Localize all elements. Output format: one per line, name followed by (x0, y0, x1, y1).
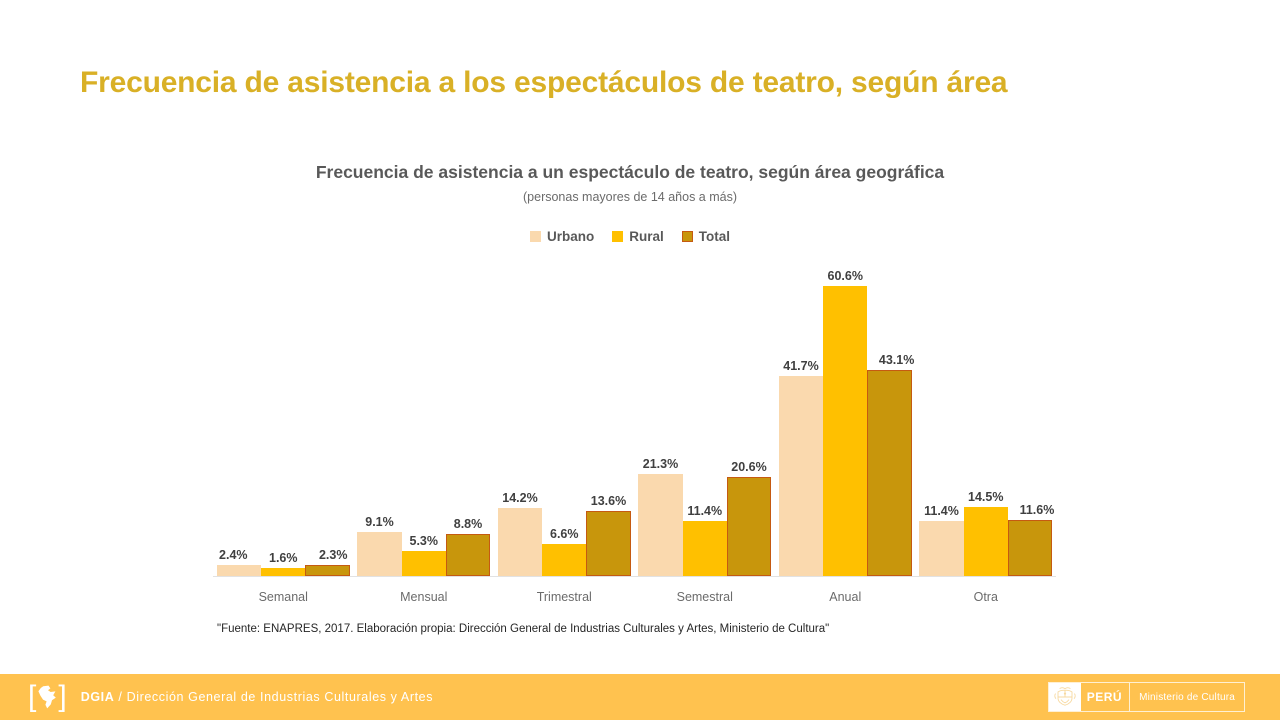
bar-rect (683, 521, 727, 576)
bar-value-label: 41.7% (783, 359, 818, 373)
bar-value-label: 43.1% (879, 353, 914, 367)
bar-rural[interactable]: 1.6% (261, 568, 305, 576)
bar-value-label: 6.6% (550, 527, 579, 541)
bar-rural[interactable]: 6.6% (542, 544, 586, 576)
bar-rect (261, 568, 305, 576)
bar-value-label: 5.3% (410, 534, 439, 548)
bar-rect (779, 376, 823, 576)
bar-value-label: 21.3% (643, 457, 678, 471)
bar-value-label: 14.2% (502, 491, 537, 505)
bar-value-label: 11.6% (1020, 503, 1055, 517)
legend-item-rural[interactable]: Rural (612, 229, 664, 244)
bar-rect (498, 508, 542, 576)
bracket-left-icon: [ (28, 682, 36, 712)
bar-rural[interactable]: 11.4% (683, 521, 727, 576)
x-axis-labels: SemanalMensualTrimestralSemestralAnualOt… (213, 590, 1056, 604)
bar-urbano[interactable]: 21.3% (638, 474, 682, 576)
bar-rect (542, 544, 586, 576)
bar-rect (305, 565, 349, 576)
chart-subtitle: (personas mayores de 14 años a más) (200, 190, 1060, 204)
bar-group: 2.4%1.6%2.3% (213, 260, 354, 576)
x-axis-tick-otra: Otra (916, 590, 1057, 604)
bar-urbano[interactable]: 9.1% (357, 532, 401, 576)
bar-rect (402, 551, 446, 576)
bar-urbano[interactable]: 11.4% (919, 521, 963, 576)
x-axis-tick-mensual: Mensual (354, 590, 495, 604)
bar-total[interactable]: 2.3% (305, 565, 349, 576)
bar-rect (919, 521, 963, 576)
bar-value-label: 14.5% (968, 490, 1003, 504)
legend-label-total: Total (699, 229, 730, 244)
x-axis-tick-semestral: Semestral (635, 590, 776, 604)
bar-rect (823, 286, 867, 576)
footer-brand-text: DGIA / Dirección General de Industrias C… (81, 690, 433, 704)
bar-value-label: 11.4% (687, 504, 722, 518)
bar-rect (638, 474, 682, 576)
footer-brand-separator: / (114, 690, 126, 704)
bar-rural[interactable]: 60.6% (823, 286, 867, 576)
bar-group: 11.4%14.5%11.6% (916, 260, 1057, 576)
bar-group: 9.1%5.3%8.8% (354, 260, 495, 576)
bar-total[interactable]: 11.6% (1008, 520, 1052, 576)
source-note: "Fuente: ENAPRES, 2017. Elaboración prop… (217, 622, 907, 637)
bar-value-label: 2.4% (219, 548, 248, 562)
chart-container: Frecuencia de asistencia a un espectácul… (200, 158, 1060, 618)
gov-ministry-label: Ministerio de Cultura (1130, 683, 1244, 711)
footer-brand-name: Dirección General de Industrias Cultural… (127, 690, 434, 704)
bracket-right-icon: ] (58, 682, 66, 712)
bar-rect (964, 507, 1008, 576)
bar-rect (1008, 520, 1052, 576)
bar-rect (446, 534, 490, 576)
bar-value-label: 9.1% (365, 515, 394, 529)
bar-value-label: 11.4% (924, 504, 959, 518)
bar-value-label: 60.6% (828, 269, 863, 283)
peru-coat-of-arms-icon (1049, 683, 1081, 711)
footer-brand-abbr: DGIA (81, 690, 115, 704)
x-axis-line (213, 576, 1056, 577)
bar-rural[interactable]: 5.3% (402, 551, 446, 576)
bar-total[interactable]: 8.8% (446, 534, 490, 576)
bar-total[interactable]: 13.6% (586, 511, 630, 576)
page-title: Frecuencia de asistencia a los espectácu… (80, 63, 1200, 103)
peru-map-icon (37, 685, 57, 709)
footer-bar: [ ] DGIA / Dirección General de Industri… (0, 674, 1280, 720)
bar-rect (727, 477, 771, 576)
bar-urbano[interactable]: 41.7% (779, 376, 823, 576)
bar-value-label: 20.6% (731, 460, 766, 474)
gov-logo: PERÚ Ministerio de Cultura (1048, 682, 1245, 712)
legend-label-rural: Rural (629, 229, 664, 244)
bar-value-label: 8.8% (454, 517, 483, 531)
dgia-logo: [ ] (28, 682, 67, 712)
bar-rect (217, 565, 261, 576)
legend-item-total[interactable]: Total (682, 229, 730, 244)
bar-total[interactable]: 20.6% (727, 477, 771, 576)
bar-group: 41.7%60.6%43.1% (775, 260, 916, 576)
legend-swatch-rural (612, 231, 623, 242)
bar-rect (586, 511, 630, 576)
plot-area: 2.4%1.6%2.3%9.1%5.3%8.8%14.2%6.6%13.6%21… (213, 260, 1056, 577)
bar-group: 21.3%11.4%20.6% (635, 260, 776, 576)
legend-label-urbano: Urbano (547, 229, 594, 244)
bar-value-label: 2.3% (319, 548, 348, 562)
chart-title: Frecuencia de asistencia a un espectácul… (280, 158, 980, 184)
bar-urbano[interactable]: 2.4% (217, 565, 261, 576)
x-axis-tick-anual: Anual (775, 590, 916, 604)
chart-legend: Urbano Rural Total (200, 229, 1060, 244)
legend-swatch-total (682, 231, 693, 242)
legend-item-urbano[interactable]: Urbano (530, 229, 594, 244)
bar-urbano[interactable]: 14.2% (498, 508, 542, 576)
x-axis-tick-trimestral: Trimestral (494, 590, 635, 604)
bar-rect (867, 370, 911, 576)
bar-total[interactable]: 43.1% (867, 370, 911, 576)
x-axis-tick-semanal: Semanal (213, 590, 354, 604)
gov-country-label: PERÚ (1081, 683, 1130, 711)
bar-value-label: 13.6% (591, 494, 626, 508)
bar-group: 14.2%6.6%13.6% (494, 260, 635, 576)
bar-value-label: 1.6% (269, 551, 298, 565)
legend-swatch-urbano (530, 231, 541, 242)
bar-rect (357, 532, 401, 576)
bar-rural[interactable]: 14.5% (964, 507, 1008, 576)
bar-groups: 2.4%1.6%2.3%9.1%5.3%8.8%14.2%6.6%13.6%21… (213, 260, 1056, 576)
